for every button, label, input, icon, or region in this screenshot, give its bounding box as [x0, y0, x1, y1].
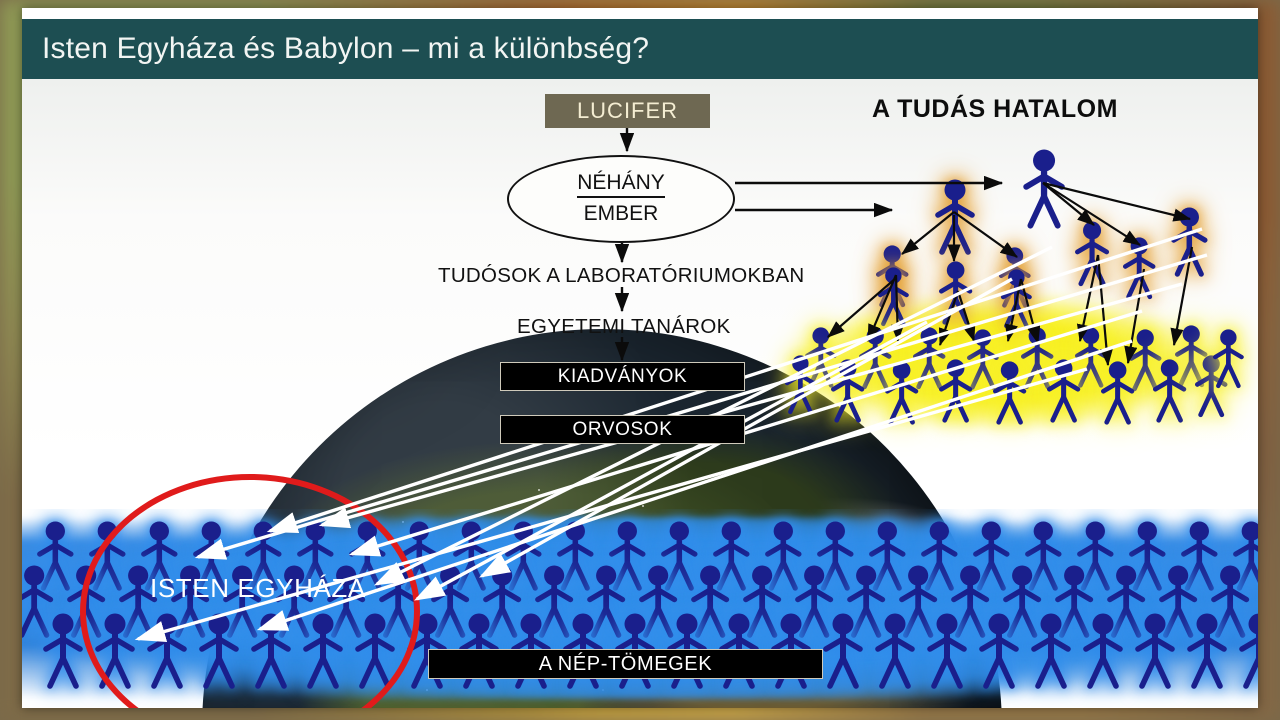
- crowd-figure: [1186, 613, 1228, 689]
- few-people-node: NÉHÁNY EMBER: [507, 155, 735, 243]
- crowd-figure: [1238, 613, 1258, 689]
- crowd-figure: [1134, 613, 1176, 689]
- lucifer-node: LUCIFER: [545, 94, 710, 128]
- crowd-figure: [874, 613, 916, 689]
- slide-header-bar: Isten Egyháza és Babylon – mi a különbsé…: [22, 19, 1258, 79]
- crowd-figure: [926, 613, 968, 689]
- crowd-figure: [42, 613, 84, 689]
- crowd-figure: [1082, 613, 1124, 689]
- masses-label: A NÉP-TÖMEGEK: [539, 653, 712, 676]
- publications-label: KIADVÁNYOK: [558, 366, 688, 388]
- professors-label: EGYETEMI TANÁROK: [517, 315, 731, 339]
- doctors-box: ORVOSOK: [500, 415, 745, 444]
- scientists-label: TUDÓSOK A LABORATÓRIUMOKBAN: [438, 264, 805, 288]
- slide-body: ISTEN EGYHÁZA LUCIFER NÉHÁNY EMBER TUDÓ: [22, 79, 1258, 708]
- knowledge-is-power-heading: A TUDÁS HATALOM: [872, 95, 1118, 124]
- doctors-label: ORVOSOK: [573, 419, 673, 441]
- crowd-figure: [978, 613, 1020, 689]
- crowd-figure: [1030, 613, 1072, 689]
- publications-box: KIADVÁNYOK: [500, 362, 745, 391]
- few-people-line1: NÉHÁNY: [577, 172, 665, 197]
- masses-box: A NÉP-TÖMEGEK: [428, 649, 823, 679]
- lucifer-label: LUCIFER: [577, 98, 678, 124]
- crowd-figure: [822, 613, 864, 689]
- page-title: Isten Egyháza és Babylon – mi a különbsé…: [22, 32, 649, 66]
- slide-canvas: Isten Egyháza és Babylon – mi a különbsé…: [22, 8, 1258, 708]
- church-label: ISTEN EGYHÁZA: [150, 573, 366, 604]
- few-people-line2: EMBER: [584, 202, 659, 226]
